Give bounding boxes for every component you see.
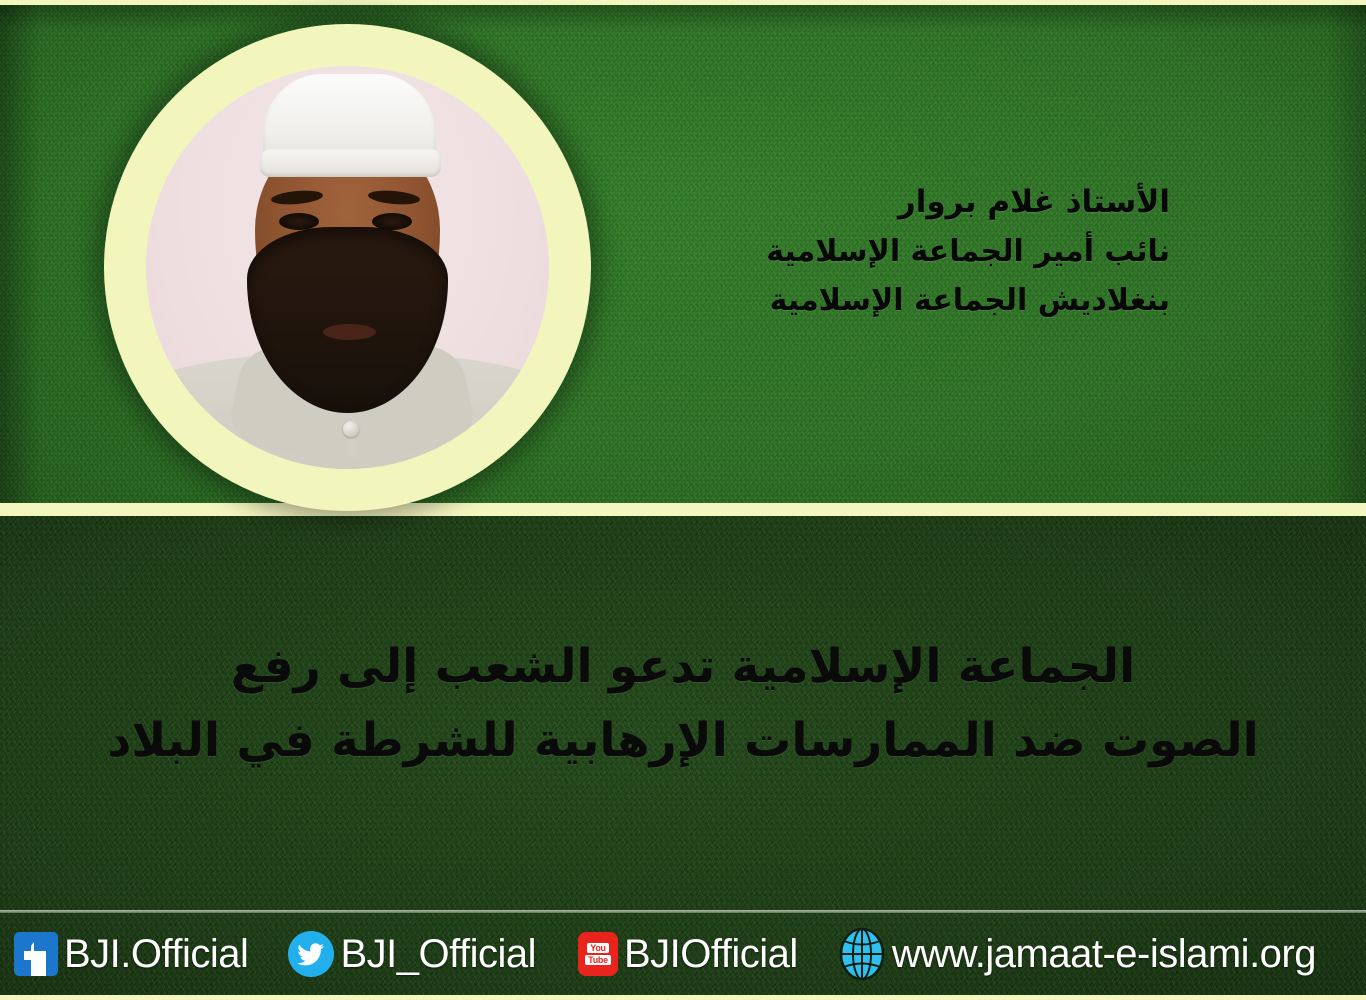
headline-line-2: الصوت ضد الممارسات الإرهابية للشرطة في ا… <box>0 704 1366 778</box>
social-footer: BJI.Official BJI_Official You Tube BJIOf… <box>0 913 1366 995</box>
facebook-handle: BJI.Official <box>64 934 248 974</box>
social-item-youtube[interactable]: You Tube BJIOfficial <box>578 913 798 995</box>
website-url: www.jamaat-e-islami.org <box>892 934 1316 974</box>
speaker-title-line-1: نائب أمير الجماعة الإسلامية <box>766 227 1170 276</box>
globe-icon[interactable] <box>838 927 886 981</box>
poster-canvas: الأستاذ غلام بروار نائب أمير الجماعة الإ… <box>0 0 1366 1000</box>
headline-block: الجماعة الإسلامية تدعو الشعب إلى رفع الص… <box>0 630 1366 778</box>
social-item-facebook[interactable]: BJI.Official <box>14 913 248 995</box>
panel-divider <box>0 503 1366 516</box>
bottom-edge-strip <box>0 995 1366 1000</box>
twitter-icon[interactable] <box>288 931 334 977</box>
speaker-name: الأستاذ غلام بروار <box>766 178 1170 227</box>
social-item-twitter[interactable]: BJI_Official <box>288 913 536 995</box>
avatar <box>104 24 591 511</box>
headline-line-1: الجماعة الإسلامية تدعو الشعب إلى رفع <box>0 630 1366 704</box>
youtube-glyph-line-1: You <box>587 943 608 953</box>
portrait-image <box>146 66 549 469</box>
twitter-handle: BJI_Official <box>340 934 536 974</box>
youtube-handle: BJIOfficial <box>624 934 798 974</box>
speaker-name-block: الأستاذ غلام بروار نائب أمير الجماعة الإ… <box>766 178 1170 325</box>
social-item-website[interactable]: www.jamaat-e-islami.org <box>838 913 1316 995</box>
facebook-icon[interactable] <box>14 932 58 976</box>
youtube-glyph-line-2: Tube <box>585 955 611 965</box>
speaker-title-line-2: بنغلاديش الجماعة الإسلامية <box>766 276 1170 325</box>
youtube-icon[interactable]: You Tube <box>578 932 618 976</box>
